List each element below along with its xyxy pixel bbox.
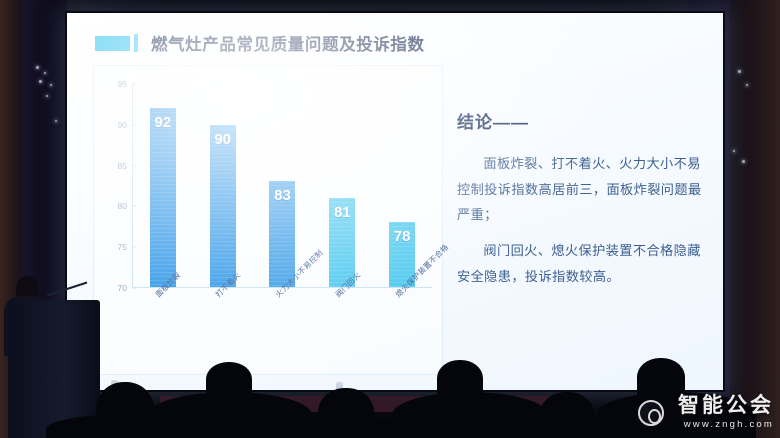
title-accent-block (95, 36, 130, 51)
bar-value-label: 78 (394, 228, 411, 245)
conclusion-heading: 结论—— (457, 108, 702, 133)
bar-value-label: 90 (214, 131, 231, 148)
decor-light (55, 120, 57, 122)
bar-item: 92 (136, 84, 190, 287)
decor-light (733, 150, 735, 152)
conclusion-paragraph-1: 面板炸裂、打不着火、火力大小不易控制投诉指数高居前三，面板炸裂问题最严重； (457, 151, 702, 228)
audience-shoulders-front (492, 420, 650, 438)
title-accent-bar (134, 34, 138, 52)
conclusion-paragraph-2: 阀门回火、熄火保护装置不合格隐藏安全隐患，投诉指数较高。 (457, 238, 702, 289)
bar-item: 83 (256, 84, 310, 287)
audience-shoulders-front (268, 418, 430, 438)
y-tick-label: 80 (118, 201, 132, 211)
decor-light (742, 160, 745, 163)
y-tick-label: 95 (118, 79, 132, 89)
bar: 92 (150, 108, 176, 287)
bar-item: 90 (196, 84, 250, 287)
conclusion-block: 结论—— 面板炸裂、打不着火、火力大小不易控制投诉指数高居前三，面板炸裂问题最严… (457, 108, 702, 300)
decor-light (39, 80, 42, 83)
bar-item: 78 (375, 84, 429, 287)
y-tick-mark (132, 288, 136, 289)
slide-title-row: 燃气灶产品常见质量问题及投诉指数 (95, 31, 425, 55)
decor-light (46, 95, 48, 97)
projection-screen: 燃气灶产品常见质量问题及投诉指数 95 90 85 80 75 70 (67, 13, 723, 390)
right-curtain (722, 0, 780, 438)
watermark-badge-icon (638, 400, 664, 426)
y-tick-label: 85 (118, 161, 132, 171)
decor-light (50, 84, 52, 86)
bar-series: 9290838178 (133, 84, 432, 287)
y-tick-label: 75 (118, 242, 132, 252)
chart-panel: 95 90 85 80 75 70 9290838178 面板炸裂打不着火火力大… (93, 65, 443, 375)
y-tick-label: 70 (118, 283, 132, 293)
chart-plot-area: 95 90 85 80 75 70 9290838178 (132, 84, 432, 288)
bar-value-label: 92 (155, 114, 172, 131)
decor-light (738, 70, 741, 73)
decor-light (746, 84, 748, 86)
presentation-slide: 燃气灶产品常见质量问题及投诉指数 95 90 85 80 75 70 (67, 13, 723, 390)
bar-value-label: 83 (274, 187, 291, 204)
bar-value-label: 81 (334, 204, 351, 221)
bar: 90 (210, 125, 236, 287)
venue-background: 燃气灶产品常见质量问题及投诉指数 95 90 85 80 75 70 (0, 0, 780, 438)
bar: 83 (269, 181, 295, 287)
decor-light (36, 66, 39, 69)
x-axis-labels: 面板炸裂打不着火火力大小不易控制阀门回火熄火保护装置不合格 (132, 292, 432, 362)
page-title: 燃气灶产品常见质量问题及投诉指数 (151, 31, 425, 55)
y-tick-label: 90 (118, 120, 132, 130)
audience-shoulders-front (46, 414, 216, 438)
decor-light (44, 72, 46, 74)
